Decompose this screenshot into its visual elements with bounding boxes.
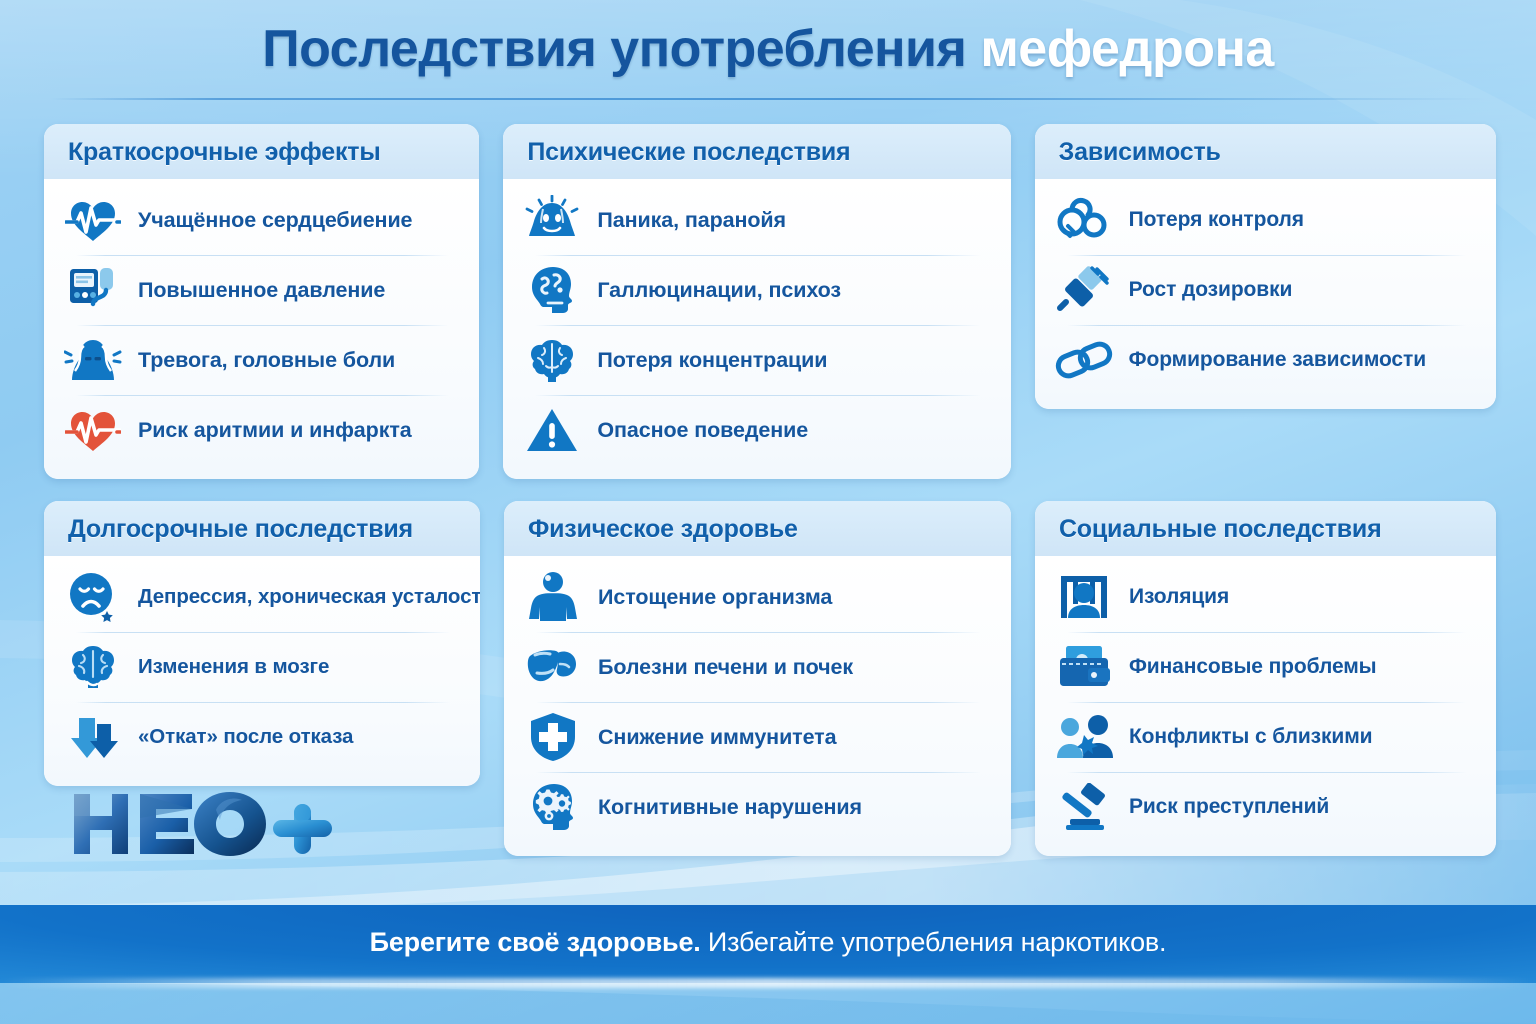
cognitive-gears-head-icon xyxy=(522,778,584,836)
warning-triangle-icon xyxy=(521,401,583,459)
list-item[interactable]: Рост дозировки xyxy=(1053,255,1478,325)
card-body: Потеря контроля Рост доз xyxy=(1035,179,1496,409)
card-mental-consequences: Психические последствия xyxy=(503,124,1010,479)
logo-neo-plus-icon xyxy=(68,788,348,860)
list-item-label: Изоляция xyxy=(1129,585,1229,609)
hallucination-head-icon xyxy=(521,261,583,319)
card-title: Долгосрочные последствия xyxy=(68,515,456,544)
list-item[interactable]: Риск аритмии и инфаркта xyxy=(62,395,461,465)
footer-message-bold: Берегите своё здоровье. xyxy=(370,927,701,957)
shield-cross-icon xyxy=(522,708,584,766)
card-short-term-effects: Краткосрочные эффекты Учащённое сердцеби xyxy=(44,124,479,479)
list-item-label: Финансовые проблемы xyxy=(1129,655,1377,679)
liver-kidney-icon xyxy=(522,638,584,696)
list-item-label: Тревога, головные боли xyxy=(138,348,395,373)
card-body: Депрессия, хроническая усталость xyxy=(44,556,480,786)
list-item[interactable]: Болезни печени и почек xyxy=(522,632,993,702)
card-title: Социальные последствия xyxy=(1059,515,1472,544)
list-item-label: Галлюцинации, психоз xyxy=(597,278,841,303)
list-item-label: Повышенное давление xyxy=(138,278,385,303)
blood-pressure-monitor-icon xyxy=(62,261,124,319)
list-item-label: Истощение организма xyxy=(598,585,832,610)
list-item-label: Рост дозировки xyxy=(1129,278,1293,302)
handcuffs-icon xyxy=(1053,191,1115,249)
exhausted-person-icon xyxy=(522,568,584,626)
heart-pulse-icon xyxy=(62,191,124,249)
card-body: Истощение организма Боле xyxy=(504,556,1011,856)
card-title: Психические последствия xyxy=(527,138,986,167)
list-item-label: Снижение иммунитета xyxy=(598,725,836,750)
card-title: Физическое здоровье xyxy=(528,515,987,544)
card-header: Физическое здоровье xyxy=(504,501,1011,556)
wallet-icon xyxy=(1053,638,1115,696)
list-item[interactable]: Когнитивные нарушения xyxy=(522,772,993,842)
brain-change-icon xyxy=(62,638,124,696)
footer-message: Берегите своё здоровье. Избегайте употре… xyxy=(0,927,1536,958)
list-item[interactable]: «Откат» после отказа xyxy=(62,702,462,772)
conflict-people-icon xyxy=(1053,708,1115,766)
card-header: Психические последствия xyxy=(503,124,1010,179)
card-header: Социальные последствия xyxy=(1035,501,1496,556)
list-item[interactable]: Паника, паранойя xyxy=(521,185,992,255)
gavel-icon xyxy=(1053,778,1115,836)
list-item[interactable]: Потеря контроля xyxy=(1053,185,1478,255)
card-header: Долгосрочные последствия xyxy=(44,501,480,556)
list-item-label: Формирование зависимости xyxy=(1129,348,1426,372)
list-item-label: Конфликты с близкими xyxy=(1129,725,1373,749)
card-social-consequences: Социальные последствия xyxy=(1035,501,1496,856)
card-addiction: Зависимость Потеря контроля xyxy=(1035,124,1496,409)
brain-icon xyxy=(521,331,583,389)
card-physical-health: Физическое здоровье Истощение организма xyxy=(504,501,1011,856)
card-title: Зависимость xyxy=(1059,138,1472,167)
footer-band: Берегите своё здоровье. Избегайте употре… xyxy=(0,905,1536,983)
list-item[interactable]: Истощение организма xyxy=(522,562,993,632)
list-item-label: «Откат» после отказа xyxy=(138,725,353,749)
page-title: Последствия употребления мефедрона xyxy=(0,22,1536,77)
list-item-label: Когнитивные нарушения xyxy=(598,795,862,820)
card-body: Изоляция xyxy=(1035,556,1496,856)
list-item[interactable]: Опасное поведение xyxy=(521,395,992,465)
card-body: Учащённое сердцебиение xyxy=(44,179,479,479)
sad-face-icon xyxy=(62,568,124,626)
heart-attack-icon xyxy=(62,401,124,459)
cards-grid: Краткосрочные эффекты Учащённое сердцеби xyxy=(44,124,1496,856)
prison-isolation-icon xyxy=(1053,568,1115,626)
list-item-label: Изменения в мозге xyxy=(138,655,329,679)
list-item[interactable]: Изоляция xyxy=(1053,562,1478,632)
list-item[interactable]: Учащённое сердцебиение xyxy=(62,185,461,255)
title-divider xyxy=(50,98,1486,100)
list-item-label: Паника, паранойя xyxy=(597,208,786,233)
brand-logo xyxy=(68,788,348,860)
list-item[interactable]: Формирование зависимости xyxy=(1053,325,1478,395)
list-item[interactable]: Риск преступлений xyxy=(1053,772,1478,842)
card-title: Краткосрочные эффекты xyxy=(68,138,455,167)
list-item[interactable]: Изменения в мозге xyxy=(62,632,462,702)
list-item-label: Потеря контроля xyxy=(1129,208,1304,232)
headache-person-icon xyxy=(62,331,124,389)
down-arrows-icon xyxy=(62,708,124,766)
list-item-label: Риск аритмии и инфаркта xyxy=(138,418,412,443)
list-item-label: Опасное поведение xyxy=(597,418,808,443)
page-title-accent: мефедрона xyxy=(980,20,1273,78)
syringe-icon xyxy=(1053,261,1115,319)
footer-message-normal: Избегайте употребления наркотиков. xyxy=(708,927,1166,957)
card-long-term-consequences: Долгосрочные последствия xyxy=(44,501,480,786)
page-header: Последствия употребления мефедрона xyxy=(0,0,1536,110)
card-header: Зависимость xyxy=(1035,124,1496,179)
list-item-label: Болезни печени и почек xyxy=(598,655,853,680)
list-item-label: Депрессия, хроническая усталость xyxy=(138,585,480,609)
list-item[interactable]: Снижение иммунитета xyxy=(522,702,993,772)
list-item[interactable]: Потеря концентрации xyxy=(521,325,992,395)
list-item[interactable]: Тревога, головные боли xyxy=(62,325,461,395)
cards-row-1: Краткосрочные эффекты Учащённое сердцеби xyxy=(44,124,1496,479)
list-item[interactable]: Галлюцинации, психоз xyxy=(521,255,992,325)
panic-face-icon xyxy=(521,191,583,249)
list-item-label: Учащённое сердцебиение xyxy=(138,208,412,233)
list-item[interactable]: Конфликты с близкими xyxy=(1053,702,1478,772)
page-title-primary: Последствия употребления xyxy=(262,20,966,78)
list-item[interactable]: Повышенное давление xyxy=(62,255,461,325)
list-item[interactable]: Финансовые проблемы xyxy=(1053,632,1478,702)
chain-link-icon xyxy=(1053,331,1115,389)
list-item-label: Риск преступлений xyxy=(1129,795,1329,819)
list-item-label: Потеря концентрации xyxy=(597,348,827,373)
card-body: Паника, паранойя Галлюци xyxy=(503,179,1010,479)
card-header: Краткосрочные эффекты xyxy=(44,124,479,179)
list-item[interactable]: Депрессия, хроническая усталость xyxy=(62,562,462,632)
